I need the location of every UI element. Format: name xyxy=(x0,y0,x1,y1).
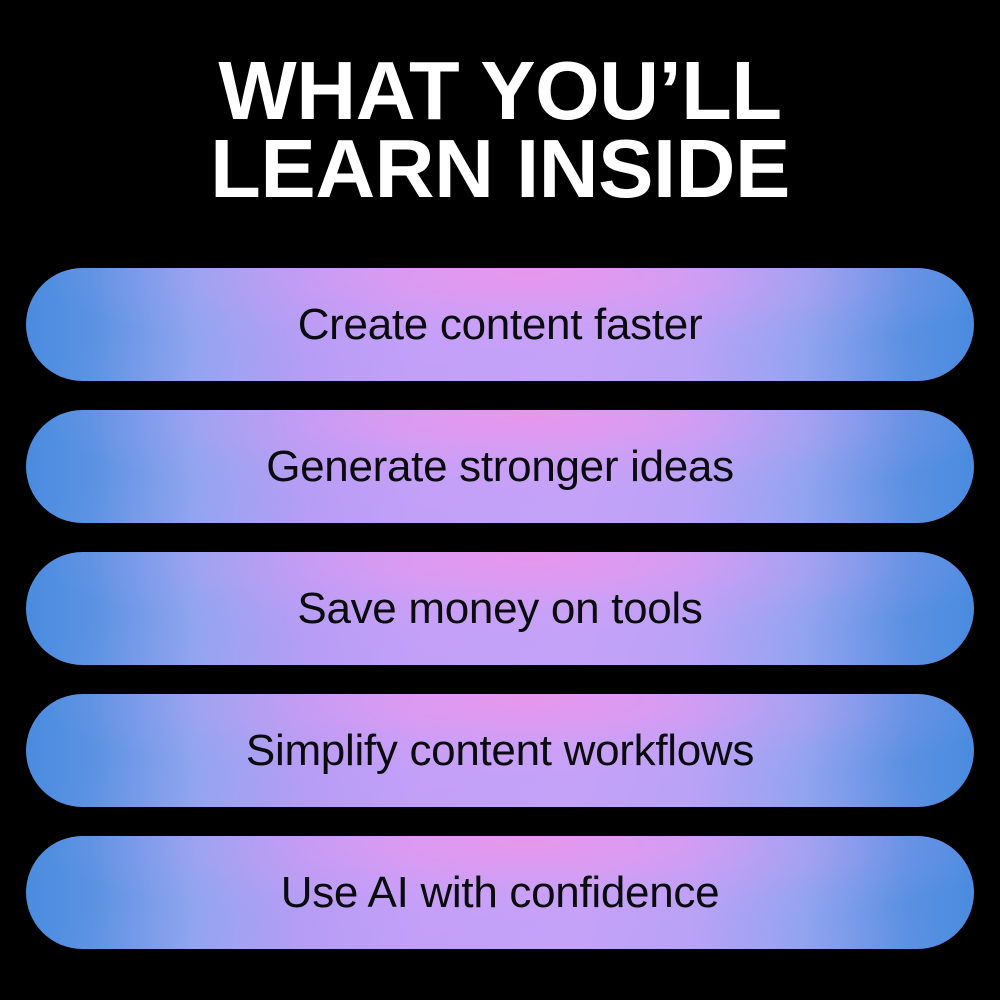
poster-canvas: WHAT YOU’LL LEARN INSIDE Create content … xyxy=(0,0,1000,1000)
list-item[interactable]: Simplify content workflows xyxy=(26,694,974,807)
benefit-label: Use AI with confidence xyxy=(281,871,720,915)
list-item[interactable]: Create content faster xyxy=(26,268,974,381)
benefit-list: Create content faster Generate stronger … xyxy=(26,268,974,949)
benefit-label: Simplify content workflows xyxy=(246,729,754,773)
list-item[interactable]: Generate stronger ideas xyxy=(26,410,974,523)
page-title-line-1: WHAT YOU’LL xyxy=(0,52,1000,130)
page-title-line-2: LEARN INSIDE xyxy=(0,130,1000,208)
benefit-label: Generate stronger ideas xyxy=(266,445,734,489)
list-item[interactable]: Use AI with confidence xyxy=(26,836,974,949)
page-title: WHAT YOU’LL LEARN INSIDE xyxy=(0,52,1000,208)
benefit-label: Create content faster xyxy=(298,303,703,347)
benefit-label: Save money on tools xyxy=(297,587,702,631)
list-item[interactable]: Save money on tools xyxy=(26,552,974,665)
